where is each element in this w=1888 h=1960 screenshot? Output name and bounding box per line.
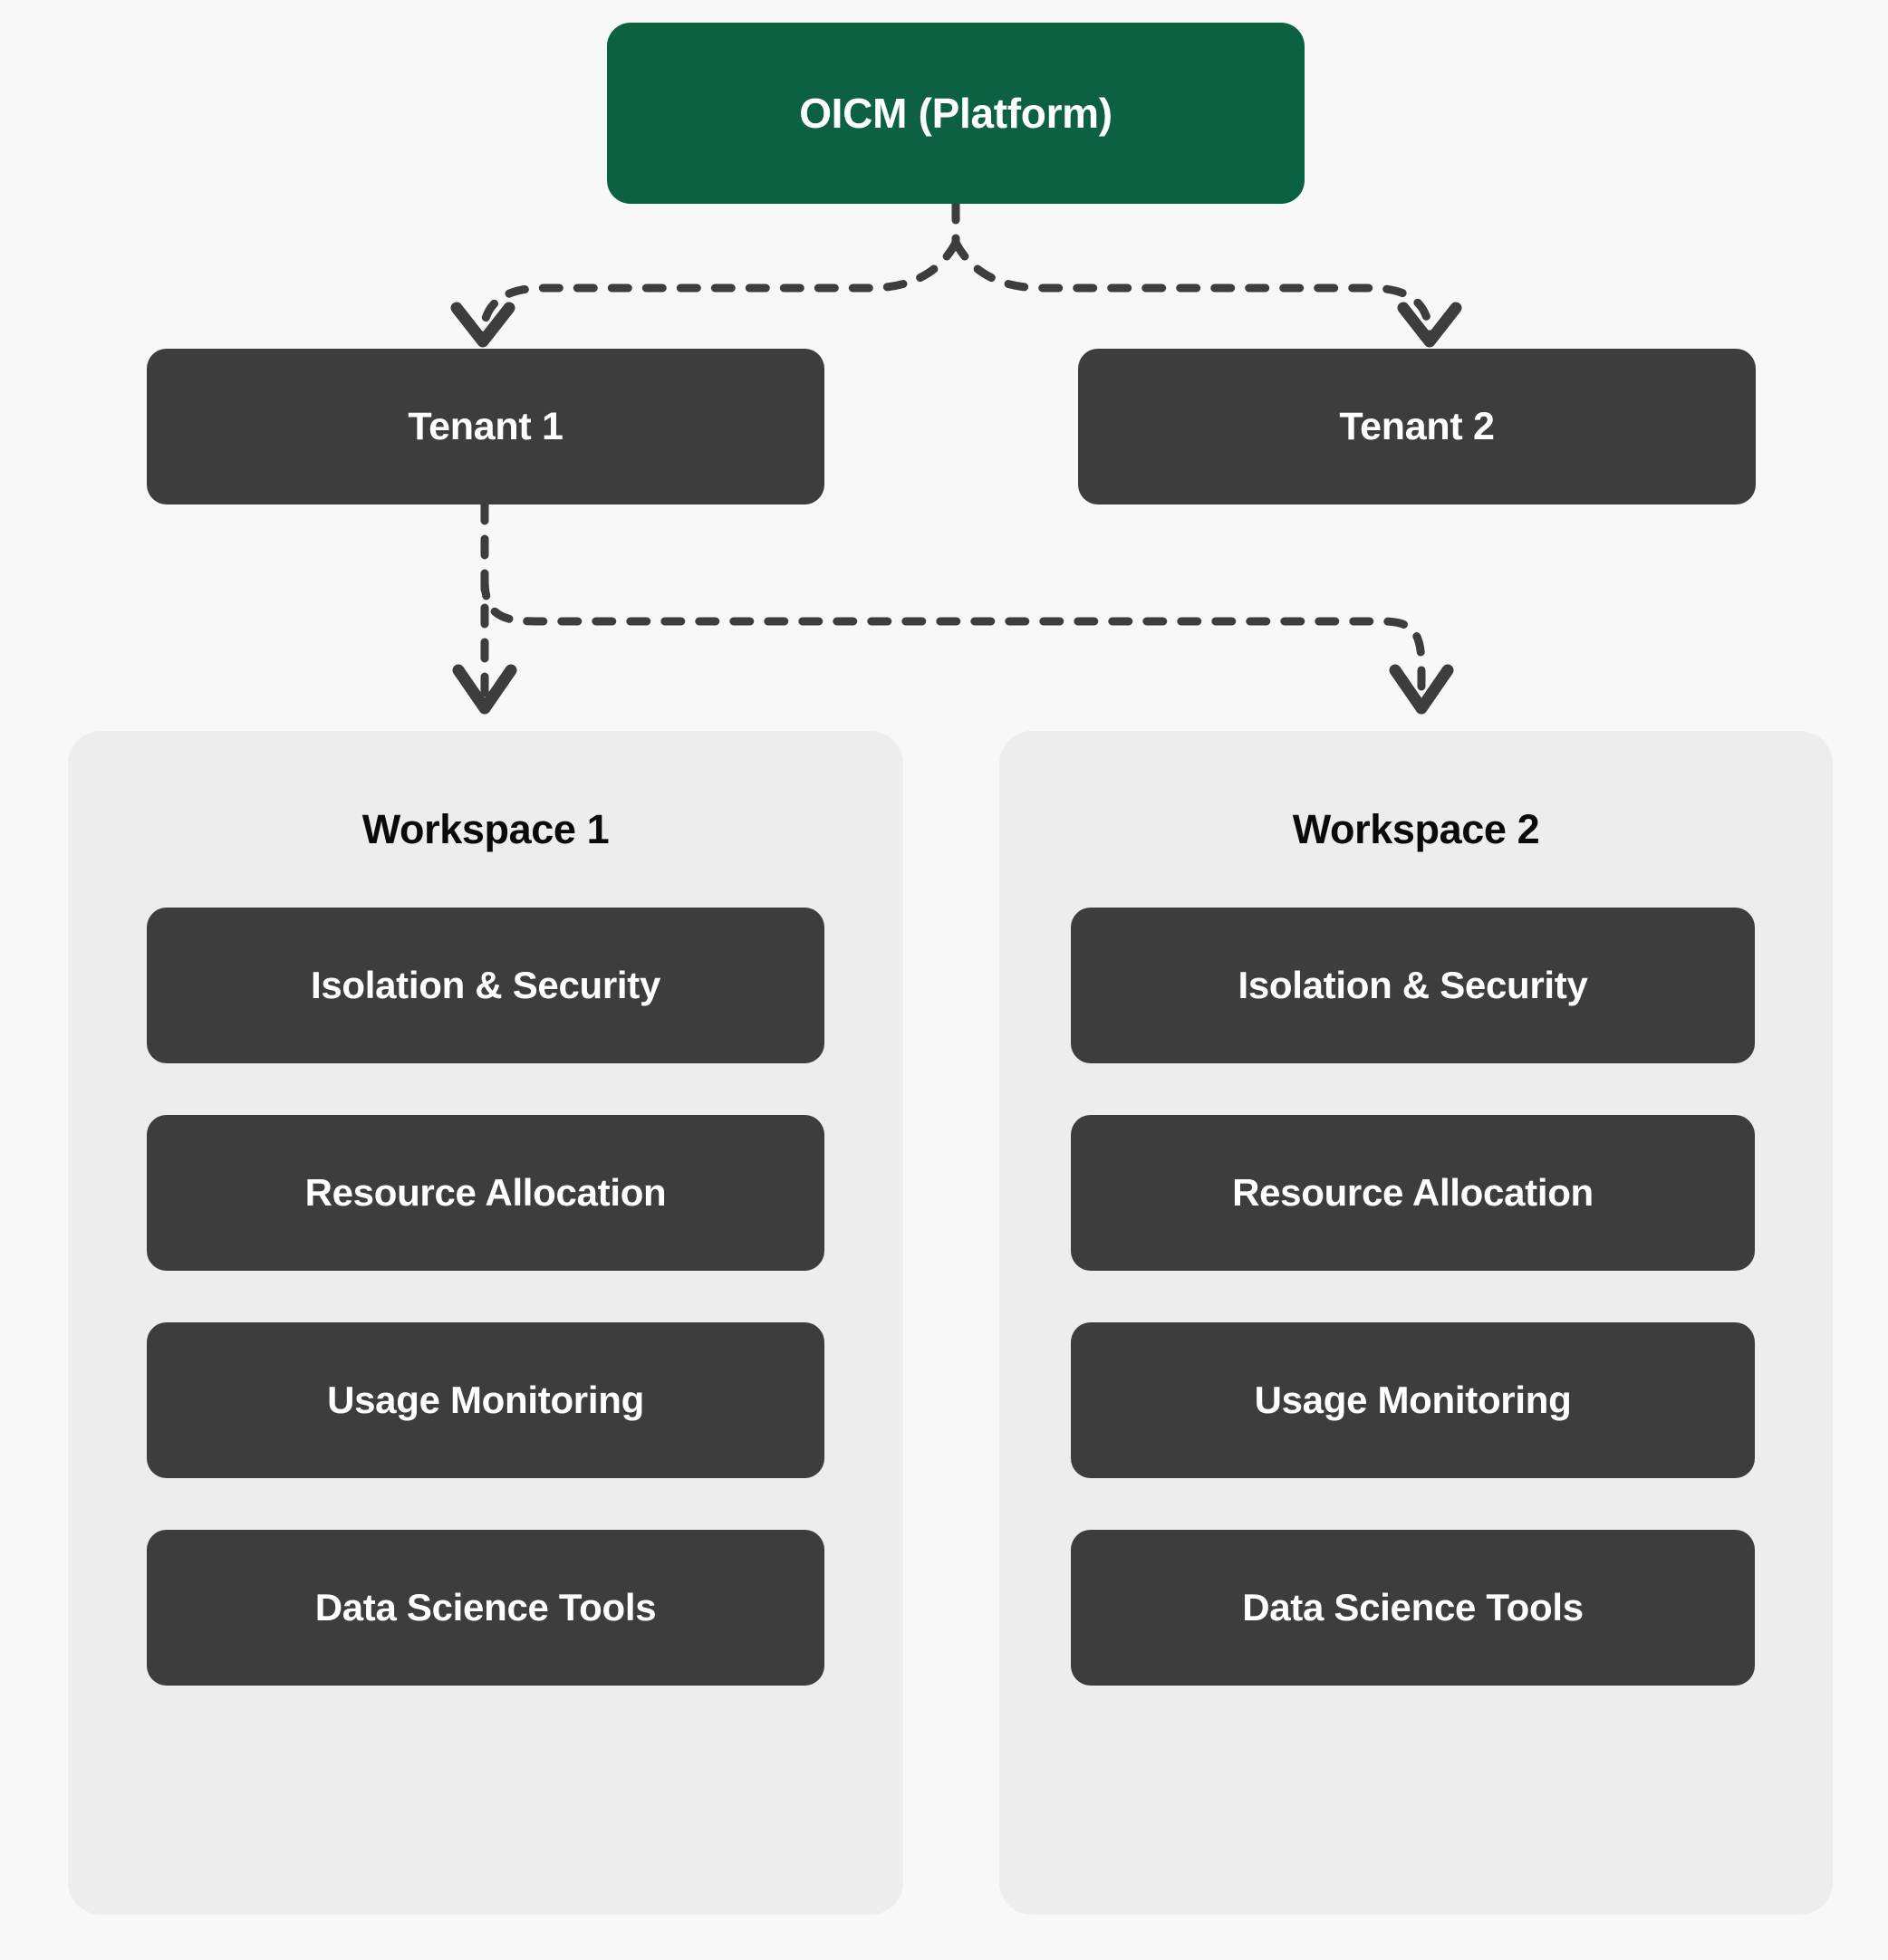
panel-workspace-2[interactable]: Workspace 2 Isolation & Security Resourc…: [999, 731, 1833, 1915]
workspace-2-feature-list: Isolation & Security Resource Allocation…: [999, 908, 1833, 1686]
node-platform-label: OICM (Platform): [799, 89, 1113, 138]
node-tenant-1[interactable]: Tenant 1: [147, 349, 824, 504]
workspace-1-title: Workspace 1: [68, 806, 903, 853]
node-tenant-2[interactable]: Tenant 2: [1078, 349, 1756, 504]
feature-pill-isolation-security-1[interactable]: Isolation & Security: [147, 908, 824, 1063]
connector-platform-to-tenant-2: [956, 243, 1430, 337]
diagram-canvas: OICM (Platform) Tenant 1 Tenant 2 Worksp…: [0, 0, 1888, 1960]
arrowhead-tenant-2: [1403, 308, 1456, 341]
feature-label: Isolation & Security: [311, 964, 660, 1007]
workspace-1-feature-list: Isolation & Security Resource Allocation…: [68, 908, 903, 1686]
node-tenant-2-label: Tenant 2: [1339, 405, 1494, 449]
feature-label: Usage Monitoring: [327, 1379, 644, 1422]
connector-tenant-1-to-workspace-2: [485, 580, 1421, 699]
node-platform-oicm[interactable]: OICM (Platform): [607, 23, 1305, 204]
feature-pill-data-science-tools-2[interactable]: Data Science Tools: [1071, 1530, 1755, 1686]
arrowhead-tenant-1: [457, 308, 509, 341]
workspace-2-title: Workspace 2: [999, 806, 1833, 853]
feature-label: Data Science Tools: [315, 1586, 657, 1629]
feature-label: Resource Allocation: [1232, 1171, 1594, 1215]
arrowhead-workspace-1: [458, 670, 511, 708]
feature-pill-isolation-security-2[interactable]: Isolation & Security: [1071, 908, 1755, 1063]
connector-platform-to-tenant-1: [483, 243, 956, 337]
feature-pill-resource-allocation-1[interactable]: Resource Allocation: [147, 1115, 824, 1271]
arrowhead-workspace-2: [1395, 670, 1448, 708]
feature-label: Resource Allocation: [305, 1171, 667, 1215]
feature-pill-data-science-tools-1[interactable]: Data Science Tools: [147, 1530, 824, 1686]
feature-pill-usage-monitoring-2[interactable]: Usage Monitoring: [1071, 1322, 1755, 1478]
panel-workspace-1[interactable]: Workspace 1 Isolation & Security Resourc…: [68, 731, 903, 1915]
feature-label: Usage Monitoring: [1255, 1379, 1572, 1422]
feature-label: Data Science Tools: [1242, 1586, 1584, 1629]
feature-pill-usage-monitoring-1[interactable]: Usage Monitoring: [147, 1322, 824, 1478]
feature-label: Isolation & Security: [1238, 964, 1587, 1007]
node-tenant-1-label: Tenant 1: [408, 405, 563, 449]
feature-pill-resource-allocation-2[interactable]: Resource Allocation: [1071, 1115, 1755, 1271]
